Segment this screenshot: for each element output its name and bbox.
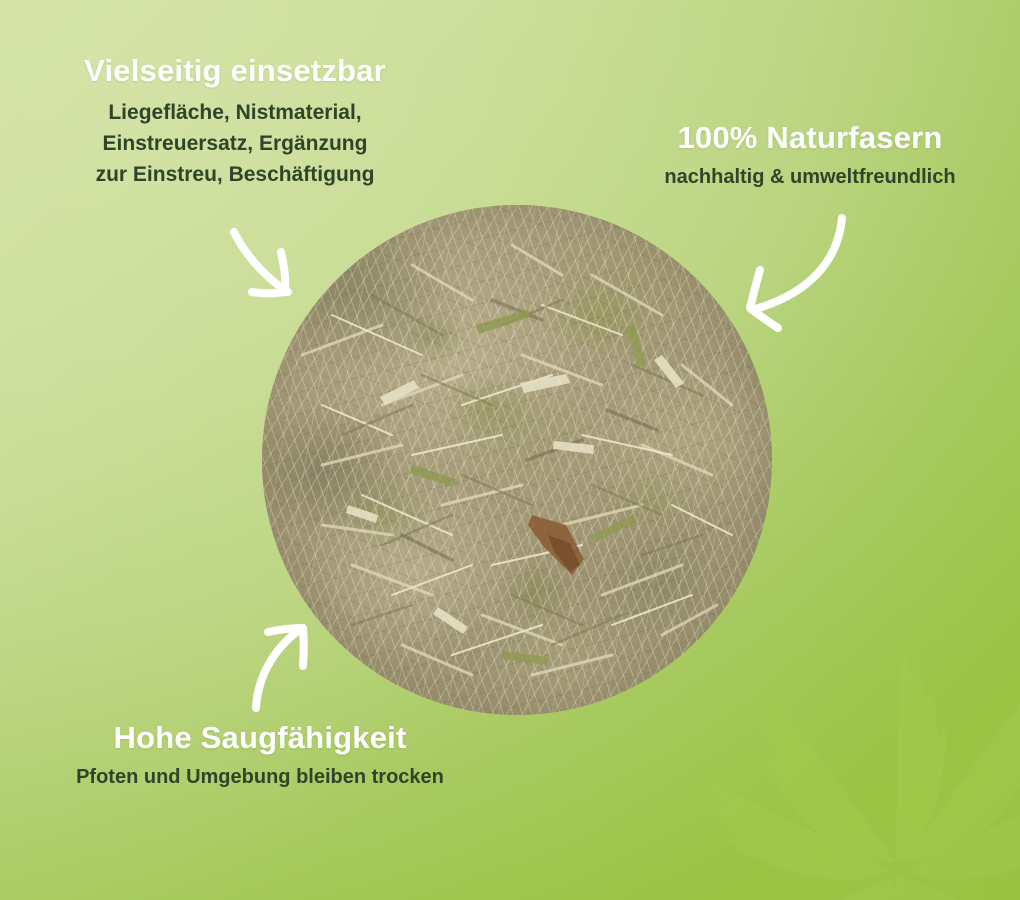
fiber-edge-shading [262, 205, 772, 715]
callout-vielseitig-subtitle-line-1: Liegefläche, Nistmaterial, [0, 97, 470, 128]
callout-vielseitig: Vielseitig einsetzbar Liegefläche, Nistm… [0, 52, 470, 190]
callout-saugfaehigkeit-title: Hohe Saugfähigkeit [10, 718, 510, 758]
callout-saugfaehigkeit: Hohe Saugfähigkeit Pfoten und Umgebung b… [10, 718, 510, 792]
callout-naturfasern: 100% Naturfasern nachhaltig & umweltfreu… [600, 118, 1020, 192]
callout-saugfaehigkeit-subtitle: Pfoten und Umgebung bleiben trocken [10, 762, 510, 792]
callout-vielseitig-title: Vielseitig einsetzbar [0, 52, 470, 90]
callout-vielseitig-subtitle-line-3: zur Einstreu, Beschäftigung [0, 159, 470, 190]
callout-vielseitig-subtitle-line-2: Einstreuersatz, Ergänzung [0, 128, 470, 159]
callout-naturfasern-title: 100% Naturfasern [600, 118, 1020, 158]
callout-naturfasern-subtitle: nachhaltig & umweltfreundlich [600, 162, 1020, 192]
callout-naturfasern-subtitle-line-1: nachhaltig & umweltfreundlich [600, 162, 1020, 192]
promo-banner: Vielseitig einsetzbar Liegefläche, Nistm… [0, 0, 1020, 900]
callout-vielseitig-subtitle: Liegefläche, Nistmaterial, Einstreuersat… [0, 97, 470, 190]
callout-saugfaehigkeit-subtitle-line-1: Pfoten und Umgebung bleiben trocken [10, 762, 510, 792]
hemp-fiber-mat-closeup [262, 205, 772, 715]
